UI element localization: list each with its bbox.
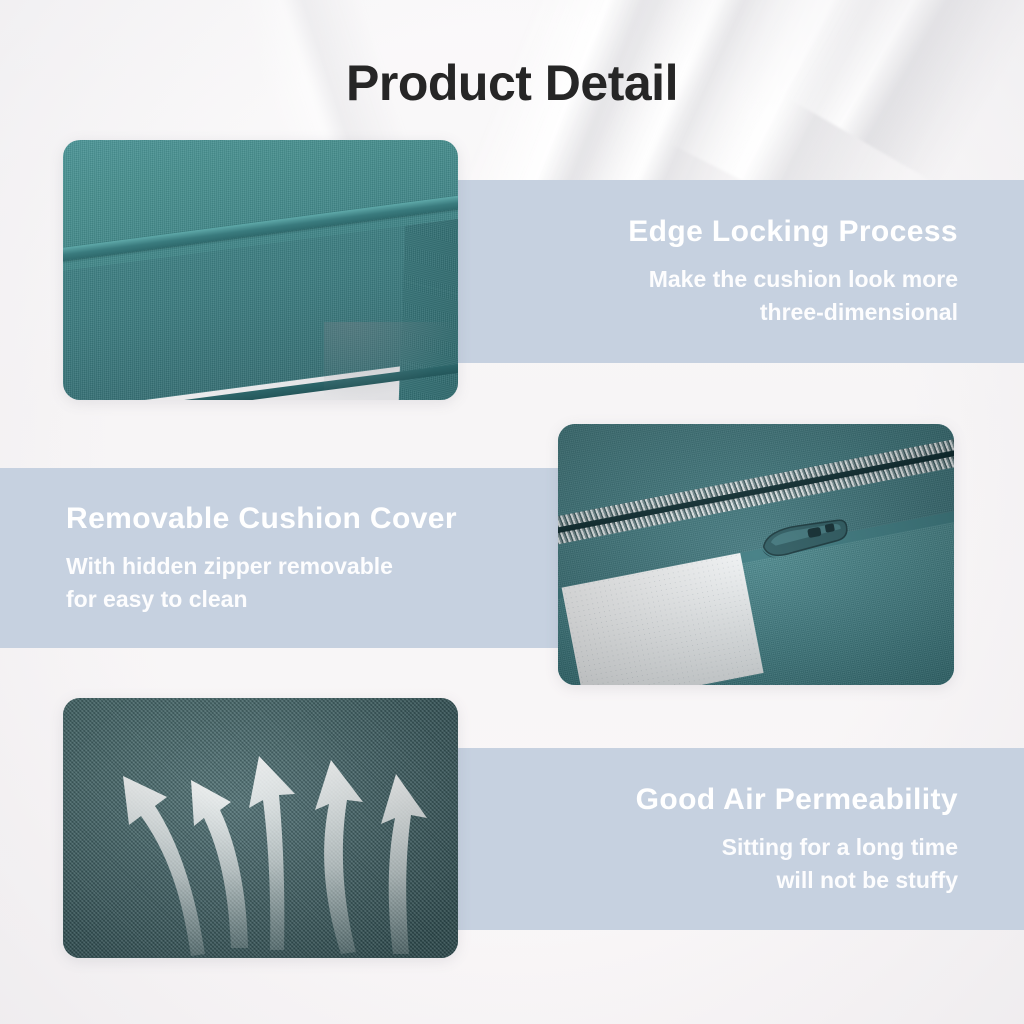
section-subtitle-line: three-dimensional	[649, 296, 958, 329]
section-subtitle-air-permeability: Sitting for a long time will not be stuf…	[722, 831, 958, 896]
product-photo-removable-cover	[558, 424, 954, 685]
section-subtitle-edge-locking: Make the cushion look more three-dimensi…	[649, 263, 958, 328]
section-subtitle-line: With hidden zipper removable	[66, 550, 393, 583]
section-subtitle-line: will not be stuffy	[722, 864, 958, 897]
section-subtitle-removable-cover: With hidden zipper removable for easy to…	[66, 550, 393, 615]
section-title-edge-locking: Edge Locking Process	[628, 214, 958, 250]
airflow-illustration	[63, 698, 458, 958]
caption-band-removable-cover: Removable Cushion Cover With hidden zipp…	[0, 468, 582, 648]
product-photo-edge-locking	[63, 140, 458, 400]
page-title: Product Detail	[0, 54, 1024, 112]
photo-shadow	[63, 698, 458, 958]
section-subtitle-line: Sitting for a long time	[722, 831, 958, 864]
section-title-removable-cover: Removable Cushion Cover	[66, 501, 457, 537]
cushion-corner-illustration	[63, 140, 458, 400]
product-photo-air-permeability	[63, 698, 458, 958]
photo-shadow	[558, 424, 954, 685]
section-subtitle-line: for easy to clean	[66, 583, 393, 616]
section-subtitle-line: Make the cushion look more	[649, 263, 958, 296]
caption-band-air-permeability: Good Air Permeability Sitting for a long…	[457, 748, 1024, 930]
caption-band-edge-locking: Edge Locking Process Make the cushion lo…	[457, 180, 1024, 363]
zipper-illustration	[558, 424, 954, 685]
section-title-air-permeability: Good Air Permeability	[636, 782, 958, 818]
photo-shadow	[324, 322, 458, 400]
